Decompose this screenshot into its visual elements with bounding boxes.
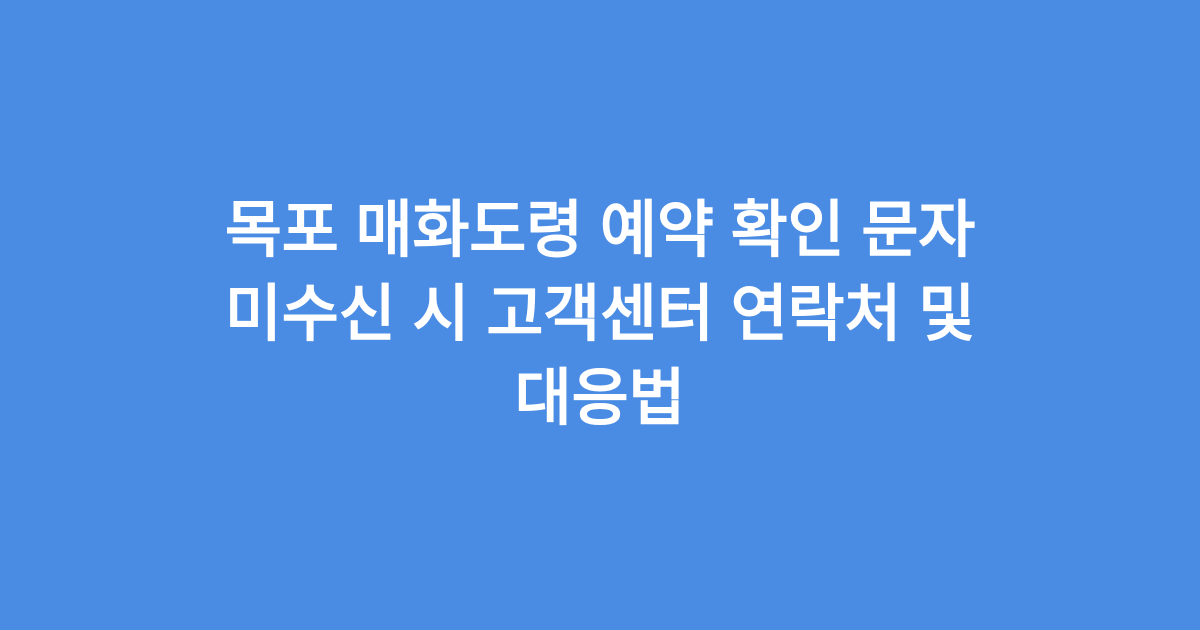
og-card: 목포 매화도령 예약 확인 문자 미수신 시 고객센터 연락처 및 대응법 [0,0,1200,630]
title-line-3: 대응법 [160,357,1040,441]
title-line-2: 미수신 시 고객센터 연락처 및 [160,273,1040,357]
page-title: 목포 매화도령 예약 확인 문자 미수신 시 고객센터 연락처 및 대응법 [140,189,1060,441]
title-line-1: 목포 매화도령 예약 확인 문자 [160,189,1040,273]
